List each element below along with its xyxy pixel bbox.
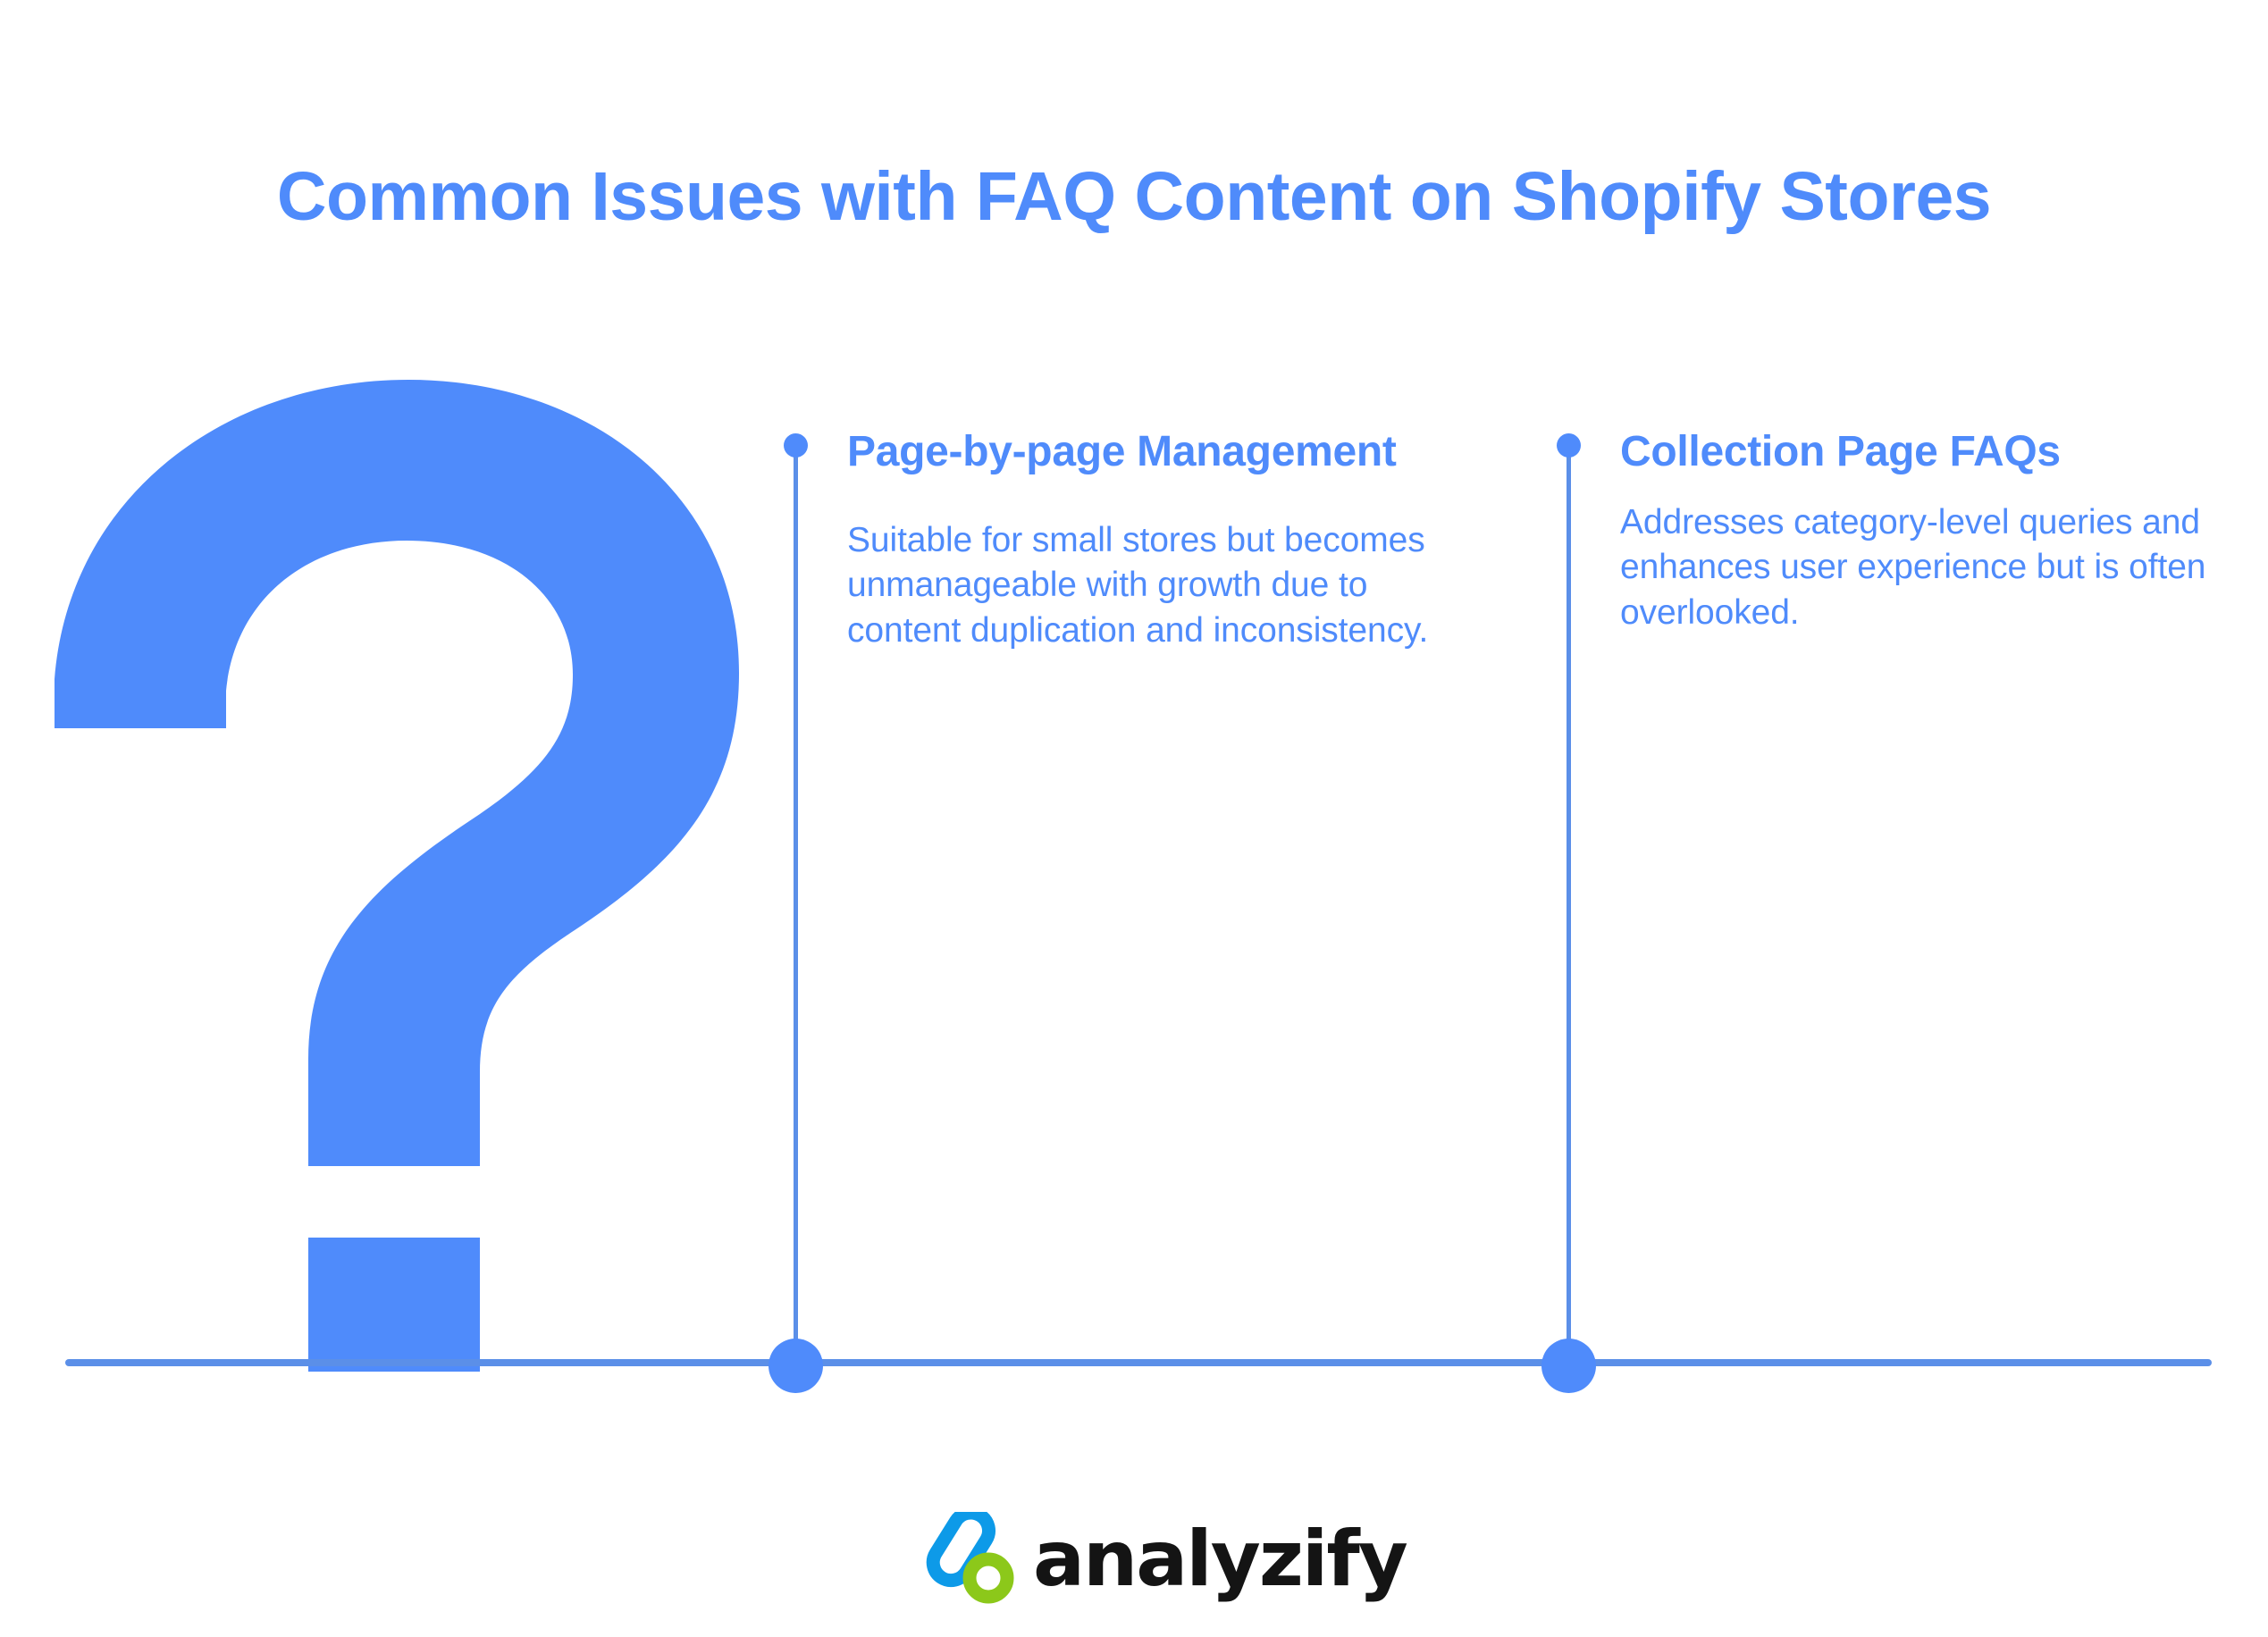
timeline-item-2-heading: Collection Page FAQs [1620, 427, 2210, 477]
timeline-node-large-2[interactable] [1541, 1339, 1596, 1393]
timeline-node-large-1[interactable] [769, 1339, 823, 1393]
timeline-item-1-heading: Page-by-page Management [847, 427, 1473, 477]
timeline-baseline [65, 1359, 2212, 1366]
question-mark-icon [49, 380, 764, 1372]
analyzify-logo-icon [920, 1512, 1015, 1607]
timeline-item-2: Collection Page FAQs Addresses category-… [1620, 427, 2210, 636]
brand-logo[interactable]: analyzify [920, 1512, 1407, 1607]
timeline-stem-1 [794, 445, 798, 1363]
page-title: Common Issues with FAQ Content on Shopif… [0, 159, 2268, 235]
timeline-item-1-body: Suitable for small stores but becomes un… [847, 518, 1473, 654]
infographic-canvas: Common Issues with FAQ Content on Shopif… [0, 0, 2268, 1637]
timeline-stem-2 [1567, 445, 1571, 1363]
timeline-item-1: Page-by-page Management Suitable for sma… [847, 427, 1473, 654]
brand-wordmark: analyzify [1033, 1521, 1407, 1598]
timeline-item-2-body: Addresses category-level queries and enh… [1620, 500, 2210, 636]
timeline-node-small-1[interactable] [784, 433, 808, 458]
timeline-node-small-2[interactable] [1557, 433, 1581, 458]
